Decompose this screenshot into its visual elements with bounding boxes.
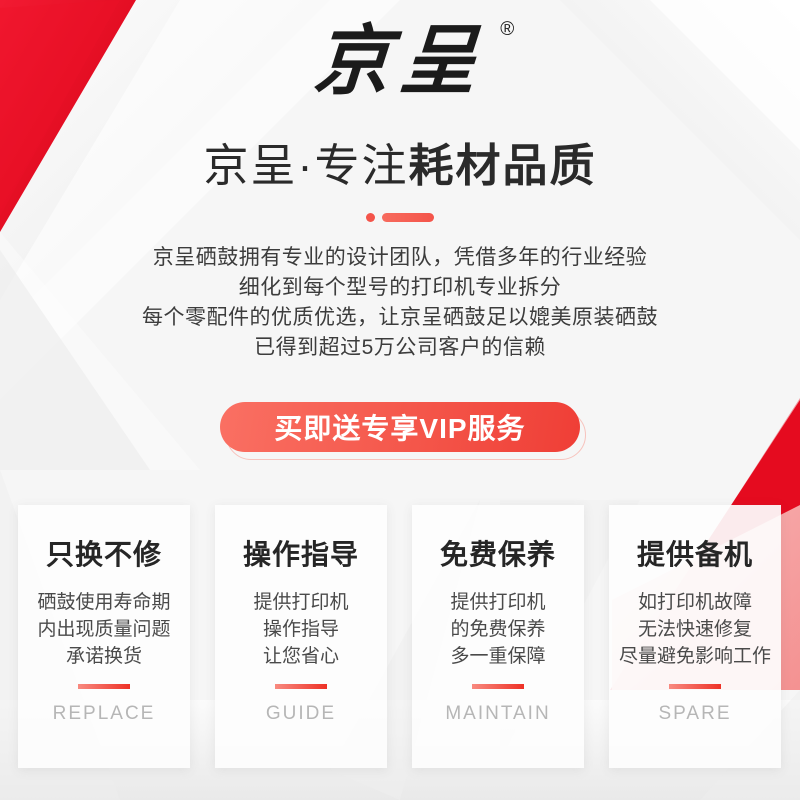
description-line: 每个零配件的优质优选，让京呈硒鼓足以媲美原装硒鼓 [0, 303, 800, 333]
card-divider [669, 684, 721, 689]
card-body-line: 多一重保障 [450, 643, 545, 670]
page-title: 京呈·专注耗材品质 [0, 143, 800, 188]
card-body-line: 提供打印机 [253, 589, 348, 616]
description-line: 京呈硒鼓拥有专业的设计团队，凭借多年的行业经验 [0, 243, 800, 273]
vip-banner[interactable]: 买即送专享VIP服务 [220, 402, 580, 454]
divider-bar-icon [382, 213, 434, 222]
card-title: 免费保养 [440, 533, 556, 573]
description-paragraph: 京呈硒鼓拥有专业的设计团队，凭借多年的行业经验 细化到每个型号的打印机专业拆分 … [0, 243, 800, 363]
page-title-bold: 耗材品质 [408, 140, 596, 191]
card-body: 提供打印机 的免费保养 多一重保障 [450, 589, 545, 670]
card-title: 只换不修 [46, 533, 162, 573]
card-divider [472, 684, 524, 689]
card-body-line: 硒鼓使用寿命期 [37, 589, 170, 616]
description-line: 已得到超过5万公司客户的信赖 [0, 333, 800, 363]
title-divider [0, 213, 800, 222]
feature-card-maintain[interactable]: 免费保养 提供打印机 的免费保养 多一重保障 MAINTAIN [412, 505, 584, 768]
card-body: 硒鼓使用寿命期 内出现质量问题 承诺换货 [37, 589, 170, 670]
logo-wordmark: 京呈 ® [311, 24, 488, 100]
promo-poster: 京呈 ® 京呈·专注耗材品质 京呈硒鼓拥有专业的设计团队，凭借多年的行业经验 细… [0, 0, 800, 800]
divider-dot-icon [366, 213, 375, 222]
card-english-label: SPARE [658, 703, 731, 725]
registered-trademark-icon: ® [500, 20, 514, 39]
card-body: 如打印机故障 无法快速修复 尽量避免影响工作 [619, 589, 771, 670]
card-body-line: 无法快速修复 [619, 616, 771, 643]
card-body-line: 的免费保养 [450, 616, 545, 643]
card-title: 提供备机 [637, 533, 753, 573]
card-divider [78, 684, 130, 689]
card-body-line: 尽量避免影响工作 [619, 643, 771, 670]
card-body-line: 操作指导 [253, 616, 348, 643]
description-line: 细化到每个型号的打印机专业拆分 [0, 273, 800, 303]
brand-logo: 京呈 ® [0, 24, 800, 100]
card-body-line: 承诺换货 [37, 643, 170, 670]
feature-card-list: 只换不修 硒鼓使用寿命期 内出现质量问题 承诺换货 REPLACE 操作指导 提… [18, 505, 782, 768]
card-body: 提供打印机 操作指导 让您省心 [253, 589, 348, 670]
card-divider [275, 684, 327, 689]
feature-card-guide[interactable]: 操作指导 提供打印机 操作指导 让您省心 GUIDE [215, 505, 387, 768]
card-body-line: 让您省心 [253, 643, 348, 670]
card-title: 操作指导 [243, 533, 359, 573]
card-english-label: REPLACE [53, 703, 156, 725]
card-body-line: 提供打印机 [450, 589, 545, 616]
feature-card-replace[interactable]: 只换不修 硒鼓使用寿命期 内出现质量问题 承诺换货 REPLACE [18, 505, 190, 768]
logo-text: 京呈 [311, 20, 489, 104]
feature-card-spare[interactable]: 提供备机 如打印机故障 无法快速修复 尽量避免影响工作 SPARE [609, 505, 781, 768]
card-body-line: 如打印机故障 [619, 589, 771, 616]
page-title-light: 京呈·专注 [203, 140, 408, 191]
vip-banner-label: 买即送专享VIP服务 [220, 402, 580, 452]
card-body-line: 内出现质量问题 [37, 616, 170, 643]
card-english-label: MAINTAIN [445, 703, 550, 725]
card-english-label: GUIDE [266, 703, 336, 725]
